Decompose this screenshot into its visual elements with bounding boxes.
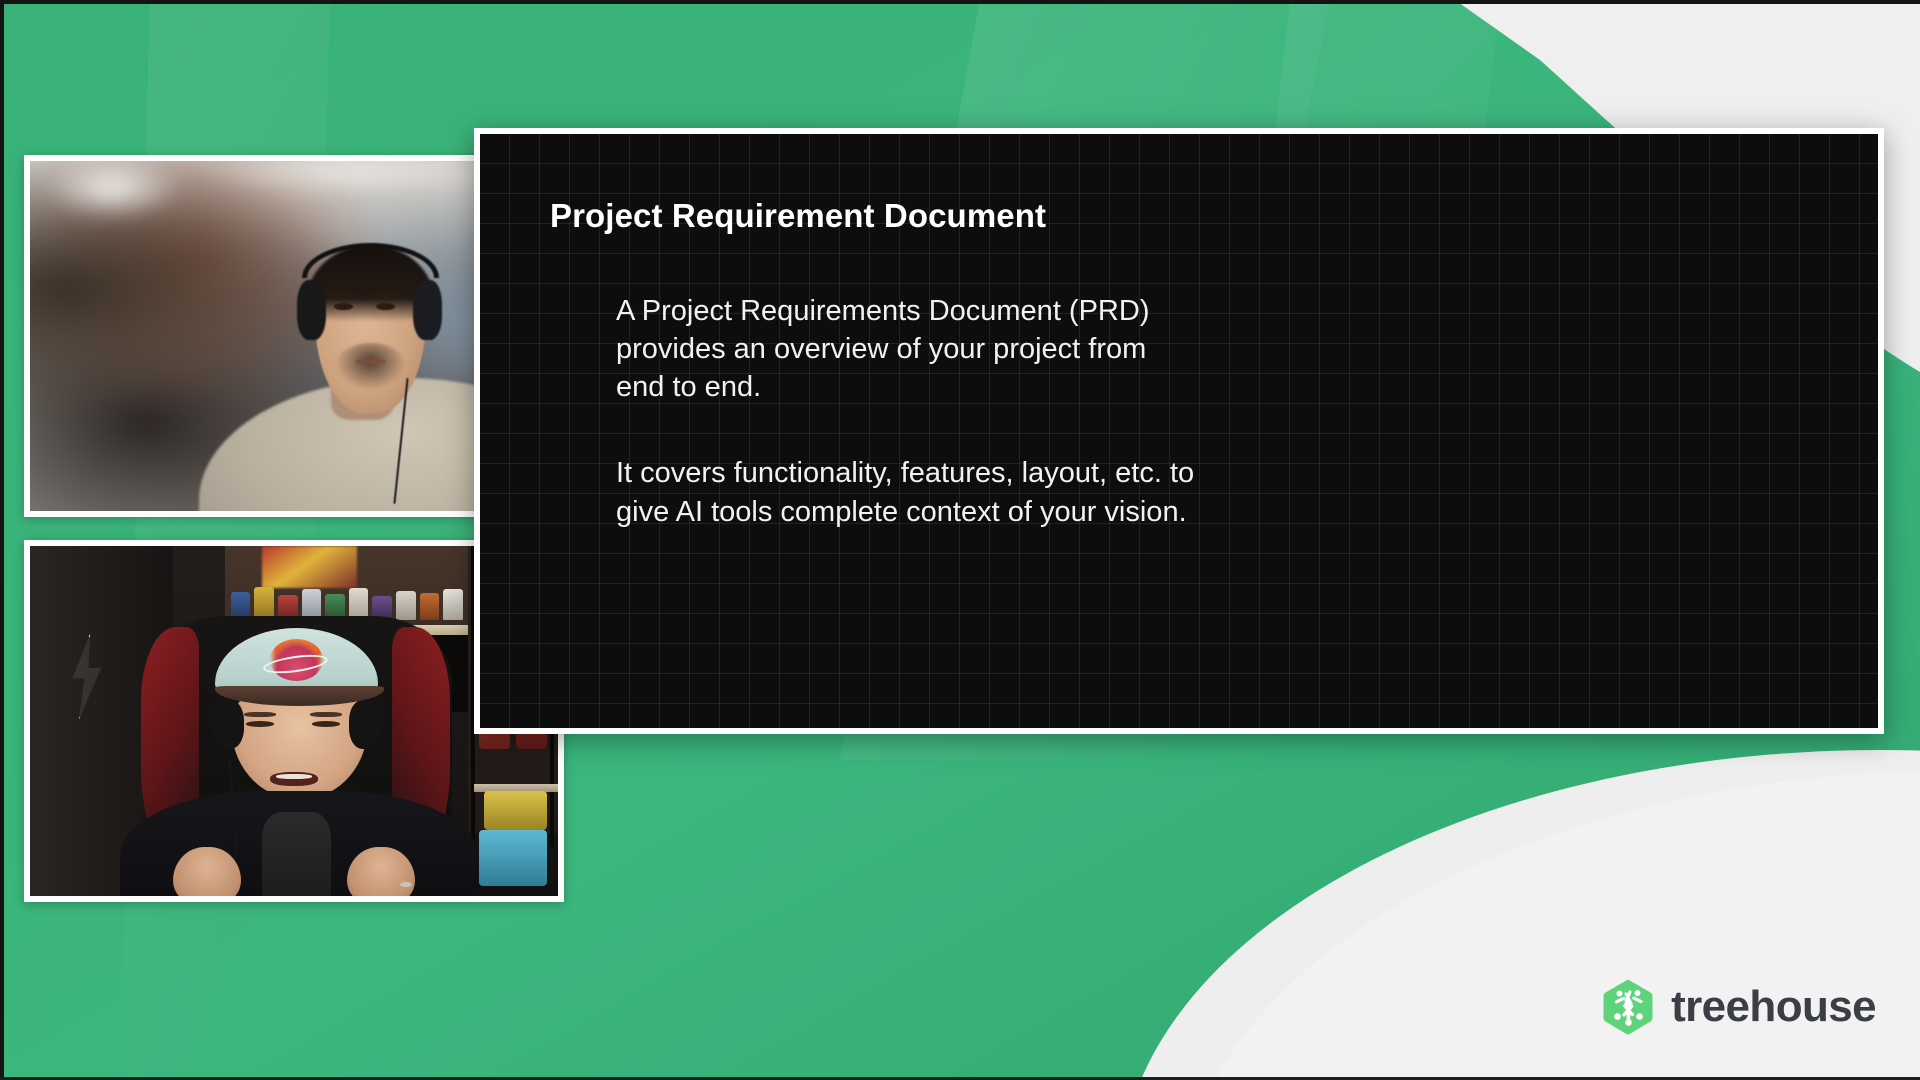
- host-ring: [400, 882, 412, 888]
- slide-content: Project Requirement Document A Project R…: [480, 134, 1878, 728]
- presentation-stage: Project Requirement Document A Project R…: [0, 0, 1920, 1080]
- participant-brow-right: [373, 292, 397, 297]
- slide-paragraph-2: It covers functionality, features, layou…: [616, 454, 1808, 531]
- participant-beard: [336, 343, 405, 389]
- treehouse-wordmark: treehouse: [1671, 985, 1876, 1029]
- treehouse-hexagon-tree-icon: [1602, 978, 1654, 1036]
- collectible-yellow-box: [484, 791, 547, 830]
- headphone-cup-right-icon: [413, 280, 442, 340]
- treehouse-logo: treehouse: [1602, 978, 1876, 1036]
- host-eye-right: [312, 721, 339, 727]
- host-brow-right: [310, 712, 342, 717]
- microphone-icon: [262, 812, 331, 896]
- capture-edge-left: [0, 0, 4, 1080]
- host-headphone-right-icon: [349, 700, 381, 749]
- host-eye-left: [246, 721, 273, 727]
- slide-body: A Project Requirements Document (PRD) pr…: [616, 292, 1808, 531]
- slide-title: Project Requirement Document: [550, 196, 1808, 236]
- host-headphone-left-icon: [212, 700, 244, 749]
- collectible-blue-box: [479, 830, 548, 886]
- headphone-cup-left-icon: [297, 280, 326, 340]
- host-teeth: [276, 774, 313, 779]
- slide-paragraph-1: A Project Requirements Document (PRD) pr…: [616, 292, 1808, 407]
- presentation-slide[interactable]: Project Requirement Document A Project R…: [474, 128, 1884, 734]
- capture-edge-top: [0, 0, 1920, 4]
- shelf-poster: [262, 546, 357, 588]
- collectible-figures-row: [231, 585, 463, 620]
- participant-brow-left: [331, 292, 355, 297]
- host-brow-left: [244, 712, 276, 717]
